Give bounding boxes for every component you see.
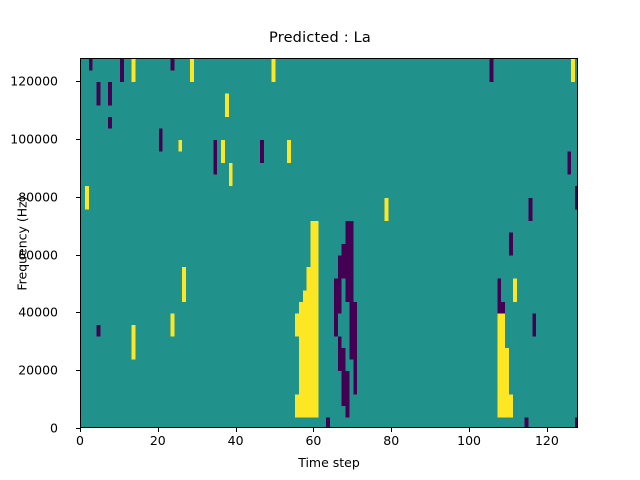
x-tick-label: 0 xyxy=(50,433,110,448)
page-title: Predicted : La xyxy=(0,30,640,46)
y-tick-label: 80000 xyxy=(0,189,58,204)
y-tick-label: 60000 xyxy=(0,247,58,262)
x-tick-label: 80 xyxy=(361,433,421,448)
x-tick-label: 40 xyxy=(206,433,266,448)
heatmap-image xyxy=(81,59,578,428)
y-tick-label: 120000 xyxy=(0,74,58,89)
x-axis-label: Time step xyxy=(80,455,578,470)
x-tick-label: 100 xyxy=(439,433,499,448)
x-tick-mark xyxy=(80,428,81,432)
heatmap-plot-area[interactable] xyxy=(80,58,578,428)
y-tick-label: 20000 xyxy=(0,363,58,378)
y-axis-label: Frequency (Hz) xyxy=(15,34,30,454)
x-tick-mark xyxy=(236,428,237,432)
y-tick-label: 40000 xyxy=(0,305,58,320)
x-tick-mark xyxy=(158,428,159,432)
x-tick-mark xyxy=(313,428,314,432)
y-tick-label: 100000 xyxy=(0,131,58,146)
x-tick-mark xyxy=(391,428,392,432)
x-tick-mark xyxy=(547,428,548,432)
matplotlib-figure: Predicted : La Frequency (Hz) 0200004000… xyxy=(0,0,640,480)
x-tick-mark xyxy=(469,428,470,432)
x-tick-label: 20 xyxy=(128,433,188,448)
x-tick-label: 120 xyxy=(517,433,577,448)
x-tick-label: 60 xyxy=(283,433,343,448)
